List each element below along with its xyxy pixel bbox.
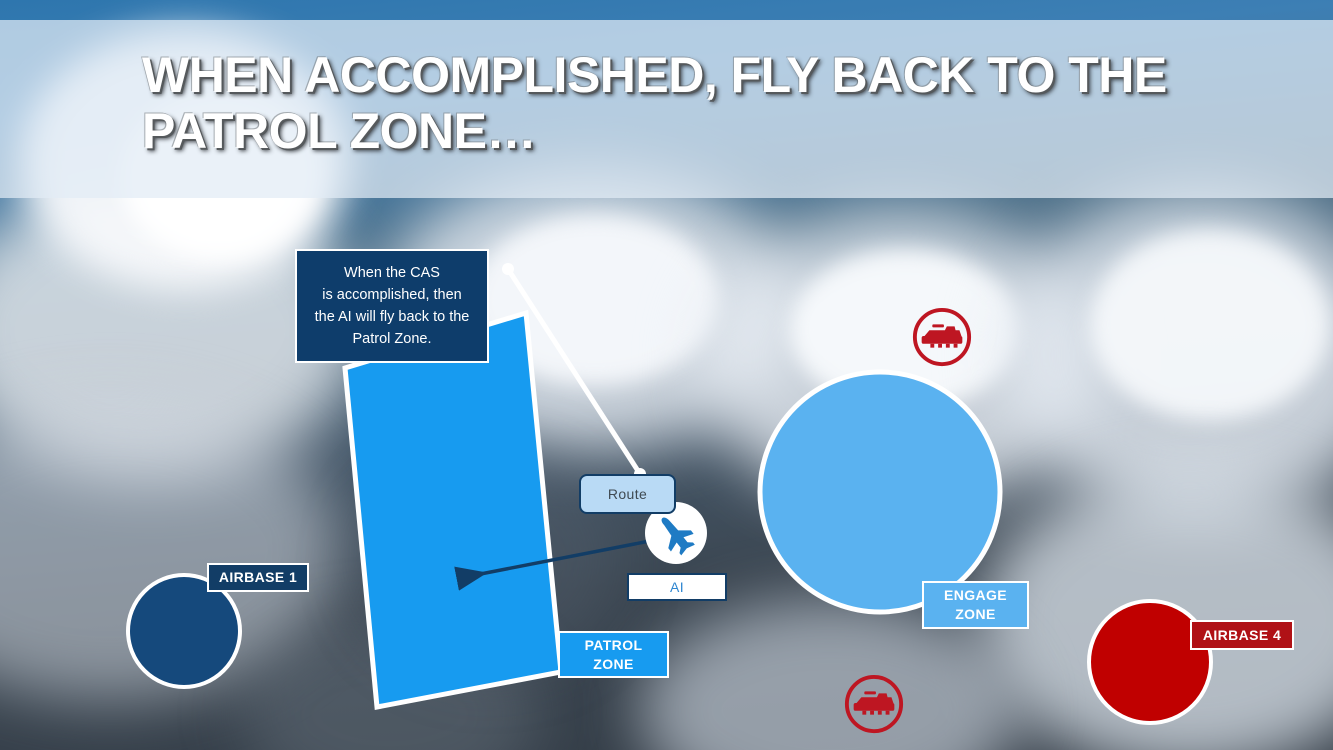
engage-zone-label[interactable]: ENGAGE ZONE <box>922 581 1029 629</box>
route-label[interactable]: Route <box>579 474 676 514</box>
slide-canvas: WHEN ACCOMPLISHED, FLY BACK TO THE PATRO… <box>0 0 1333 750</box>
patrol-zone-shape[interactable] <box>345 313 561 707</box>
tank-glyph <box>843 673 905 735</box>
patrol-zone-label[interactable]: PATROL ZONE <box>558 631 669 678</box>
fighter-jet-glyph <box>653 510 699 556</box>
tank-icon[interactable] <box>911 306 973 368</box>
tank-glyph <box>911 306 973 368</box>
engage-zone-shape[interactable] <box>760 372 1000 612</box>
tank-icon[interactable] <box>843 673 905 735</box>
leader-line-endpoint-dot <box>502 263 514 275</box>
ai-label[interactable]: AI <box>627 573 727 601</box>
airbase1-label[interactable]: AIRBASE 1 <box>207 563 309 592</box>
callout-box: When the CAS is accomplished, then the A… <box>295 249 489 363</box>
airbase4-label[interactable]: AIRBASE 4 <box>1190 620 1294 650</box>
